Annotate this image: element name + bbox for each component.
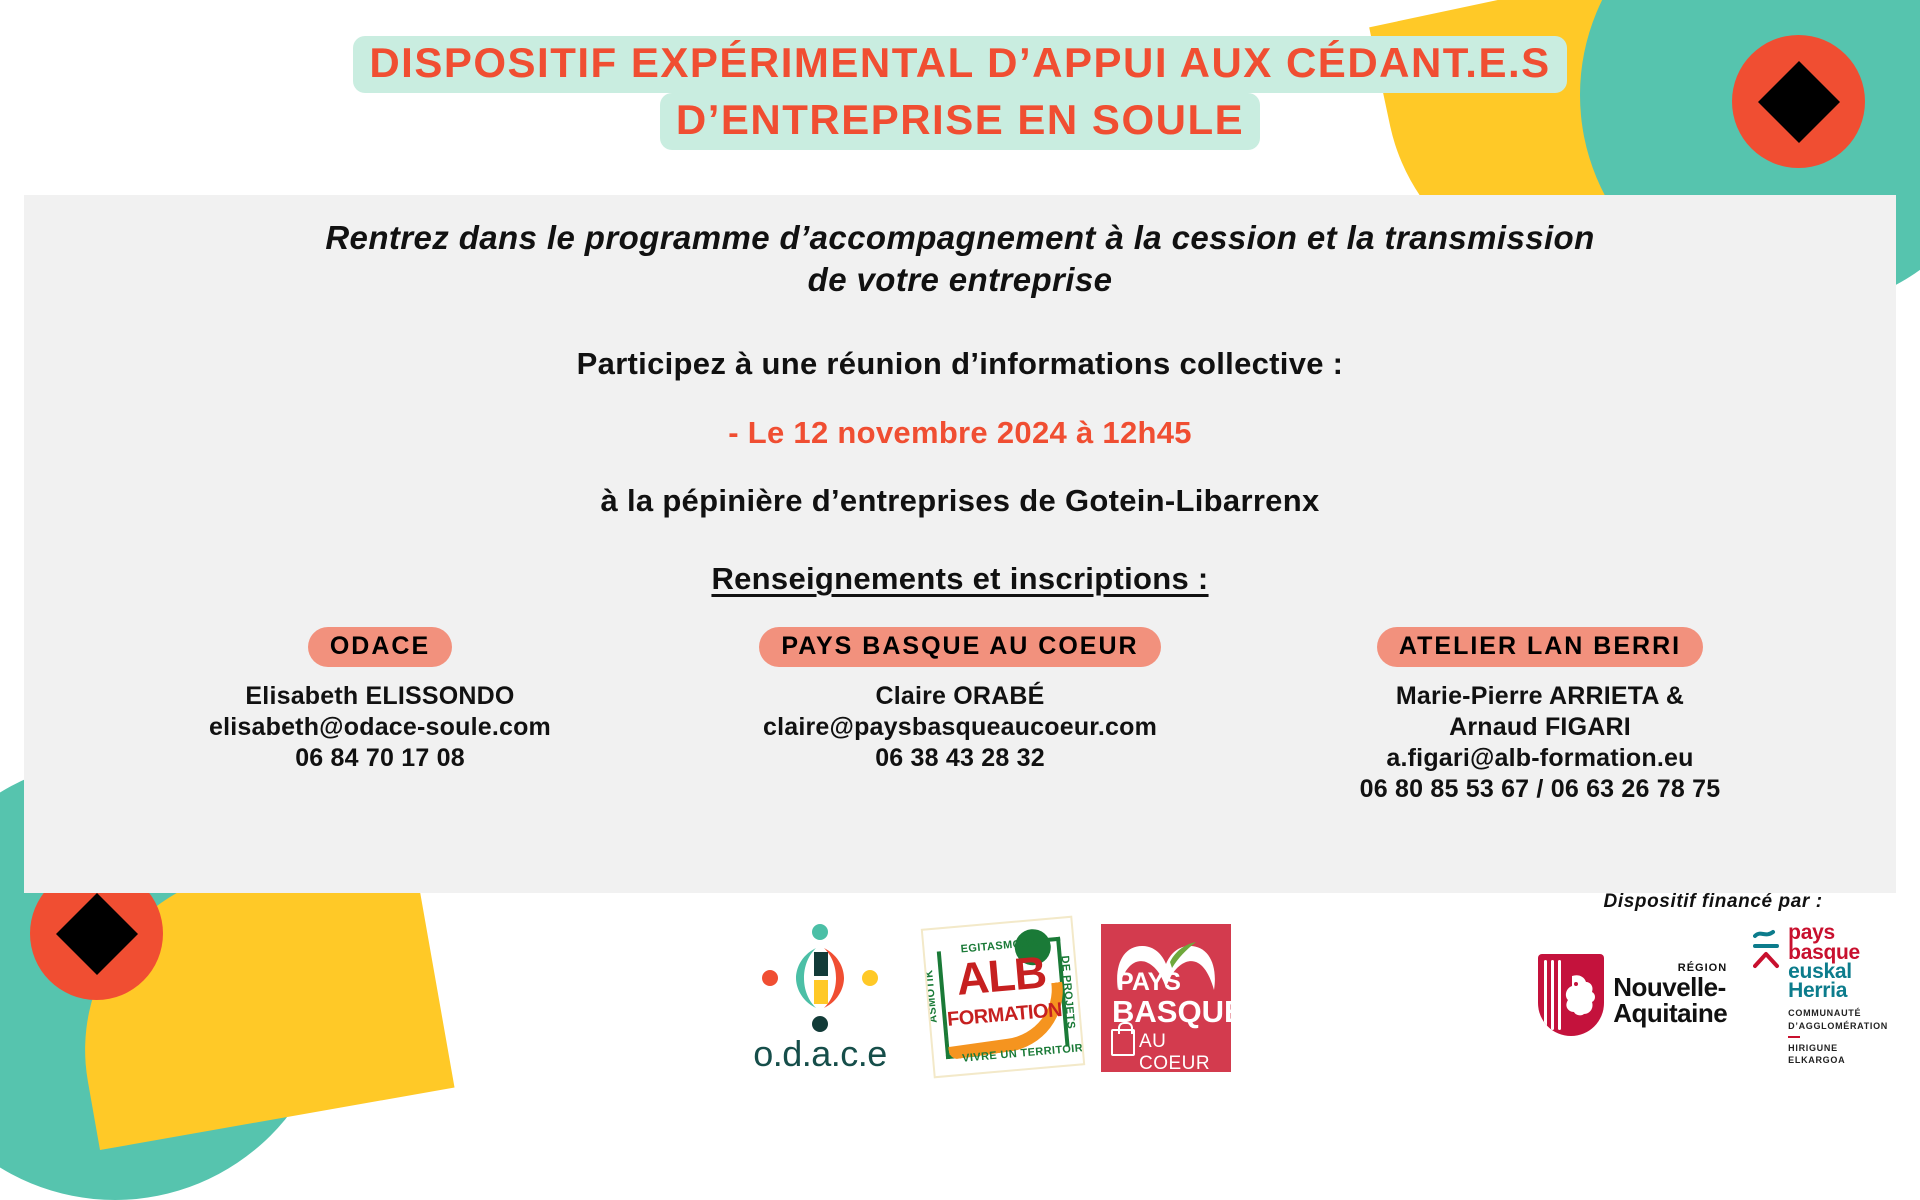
title-line-2: D’ENTREPRISE EN SOULE <box>660 93 1260 150</box>
logo-region-nouvelle-aquitaine: RÉGION Nouvelle- Aquitaine <box>1538 954 1727 1036</box>
shopping-bag-icon <box>1111 1029 1135 1056</box>
contact-name-2: Arnaud FIGARI <box>1258 712 1822 743</box>
diamond-icon <box>55 892 137 974</box>
contact-email[interactable]: elisabeth@odace-soule.com <box>98 712 662 743</box>
pbc-line-1: PAYS <box>1117 968 1181 997</box>
page-title: DISPOSITIF EXPÉRIMENTAL D’APPUI AUX CÉDA… <box>0 36 1920 150</box>
meeting-subheading: Participez à une réunion d’informations … <box>24 346 1896 382</box>
agglo-small-4: ELKARGOA <box>1788 1054 1888 1066</box>
status-badge: ATELIER LAN BERRI <box>1377 627 1703 667</box>
lion-icon <box>1562 972 1598 1018</box>
contact-details: Claire ORABÉ claire@paysbasqueaucoeur.co… <box>678 681 1242 774</box>
shield-icon <box>1538 954 1604 1036</box>
logo-odace: o.d.a.c.e <box>735 924 905 1072</box>
funders-logos: RÉGION Nouvelle- Aquitaine pays basque e… <box>1538 923 1888 1066</box>
agglo-small-2: D’AGGLOMÉRATION <box>1788 1020 1888 1032</box>
agglo-small-3: HIRIGUNE <box>1788 1042 1888 1054</box>
funders-label: Dispositif financé par : <box>1538 891 1888 913</box>
contact-card-pays-basque-au-coeur: PAYS BASQUE AU COEUR Claire ORABÉ claire… <box>670 627 1250 774</box>
contact-heading: Renseignements et inscriptions : <box>24 561 1896 597</box>
contact-card-odace: ODACE Elisabeth ELISSONDO elisabeth@odac… <box>90 627 670 774</box>
status-badge: ODACE <box>308 627 452 667</box>
region-name-1: Nouvelle- <box>1613 974 1727 1000</box>
agglo-word-1: pays <box>1788 923 1860 942</box>
meeting-date: - Le 12 novembre 2024 à 12h45 <box>24 415 1896 451</box>
agglo-word-2: basque <box>1788 943 1860 962</box>
title-line-1: DISPOSITIF EXPÉRIMENTAL D’APPUI AUX CÉDA… <box>353 36 1566 93</box>
logo-pays-basque-au-coeur: PAYS BASQUE AU COEUR <box>1101 924 1231 1072</box>
contact-email[interactable]: a.figari@alb-formation.eu <box>1258 743 1822 774</box>
contact-name: Marie-Pierre ARRIETA & <box>1258 681 1822 712</box>
contact-phone[interactable]: 06 38 43 28 32 <box>678 743 1242 774</box>
pbc-line-3: AU COEUR <box>1139 1031 1231 1072</box>
funders-block: Dispositif financé par : RÉGION Nouvelle… <box>1538 891 1888 1066</box>
contact-phone[interactable]: 06 84 70 17 08 <box>98 743 662 774</box>
region-name-2: Aquitaine <box>1613 1000 1727 1026</box>
agglo-subtitle: COMMUNAUTÉ D’AGGLOMÉRATION HIRIGUNE ELKA… <box>1788 1007 1888 1066</box>
odace-mark-icon <box>756 924 884 1032</box>
lead-line-1: Rentrez dans le programme d’accompagneme… <box>150 217 1770 259</box>
divider <box>1788 1036 1800 1038</box>
contact-card-atelier-lan-berri: ATELIER LAN BERRI Marie-Pierre ARRIETA &… <box>1250 627 1830 805</box>
contact-email[interactable]: claire@paysbasqueaucoeur.com <box>678 712 1242 743</box>
contact-name: Elisabeth ELISSONDO <box>98 681 662 712</box>
meeting-place: à la pépinière d’entreprises de Gotein-L… <box>24 483 1896 519</box>
basque-lauburu-mark-icon <box>1753 923 1781 972</box>
odace-wordmark: o.d.a.c.e <box>735 1036 905 1072</box>
contact-details: Marie-Pierre ARRIETA & Arnaud FIGARI a.f… <box>1258 681 1822 805</box>
lead-paragraph: Rentrez dans le programme d’accompagneme… <box>150 217 1770 300</box>
contact-details: Elisabeth ELISSONDO elisabeth@odace-soul… <box>98 681 662 774</box>
agglo-word-4: Herria <box>1788 981 1860 1000</box>
logo-pays-basque-agglomeration: pays basque euskal Herria COMMUNAUTÉ D’A… <box>1753 923 1888 1066</box>
content-panel: Rentrez dans le programme d’accompagneme… <box>24 195 1896 893</box>
lead-line-2: de votre entreprise <box>150 259 1770 301</box>
status-badge: PAYS BASQUE AU COEUR <box>759 627 1160 667</box>
agglo-small-1: COMMUNAUTÉ <box>1788 1007 1888 1019</box>
contacts-row: ODACE Elisabeth ELISSONDO elisabeth@odac… <box>90 627 1830 805</box>
contact-phone[interactable]: 06 80 85 53 67 / 06 63 26 78 75 <box>1258 774 1822 805</box>
logo-alb-formation: ALB FORMATION EGITASMORA ASMOTIK DE PROJ… <box>921 916 1085 1079</box>
contact-name: Claire ORABÉ <box>678 681 1242 712</box>
